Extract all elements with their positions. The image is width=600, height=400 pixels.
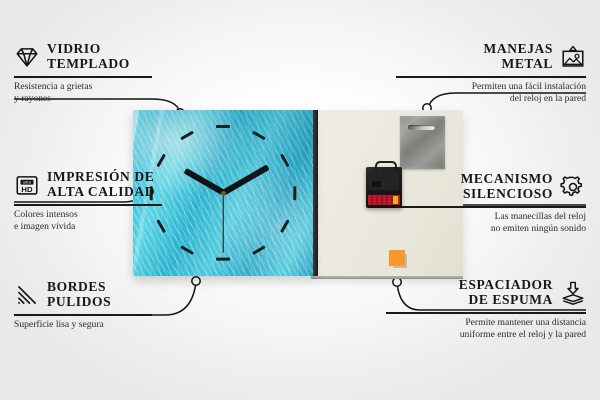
infographic-canvas: VIDRIO TEMPLADO Resistencia a grietas y …: [0, 0, 600, 400]
ultra-hd-icon: ultra HD: [14, 172, 40, 198]
feature-desc: Permiten una fácil instalación del reloj…: [386, 81, 586, 106]
feature-rule: [386, 312, 586, 313]
clock-glass-edge: [313, 110, 318, 276]
feature-impresion-alta-calidad: ultra HD IMPRESIÓN DE ALTA CALIDAD Color…: [14, 170, 204, 234]
feature-rule: [14, 76, 152, 77]
foam-spacer-arrow-icon: [560, 280, 586, 306]
feature-espaciador-espuma: ESPACIADOR DE ESPUMA Permite mantener un…: [376, 278, 586, 342]
center-pin: [221, 191, 226, 196]
feature-title-line1: VIDRIO: [47, 42, 130, 57]
minute-hand: [222, 165, 270, 196]
clock-tick: [216, 125, 230, 128]
feature-rule: [396, 76, 586, 77]
clock-tick: [156, 153, 165, 166]
feature-bordes-pulidos: BORDES PULIDOS Superficie lisa y segura: [14, 280, 194, 331]
clock-tick: [180, 131, 193, 140]
feature-mecanismo-silencioso: MECANISMO SILENCIOSO Las manecillas del …: [386, 172, 586, 236]
feature-title-line2: DE ESPUMA: [459, 293, 553, 308]
feature-desc: Superficie lisa y segura: [14, 319, 194, 332]
feature-title-line1: BORDES: [47, 280, 111, 295]
feature-desc: Permite mantener una distancia uniforme …: [376, 317, 586, 342]
gear-icon: [560, 174, 586, 200]
feature-desc-line2: uniforme entre el reloj y la pared: [376, 329, 586, 342]
feature-desc-line1: Superficie lisa y segura: [14, 319, 194, 332]
feature-desc-line1: Resistencia a grietas: [14, 81, 194, 94]
clock-tick: [252, 131, 265, 140]
clock-tick: [281, 219, 290, 232]
diamond-icon: [14, 44, 40, 70]
feature-manejas-metal: MANEJAS METAL Permiten una fácil instala…: [386, 42, 586, 106]
feature-desc-line1: Permiten una fácil instalación: [386, 81, 586, 94]
feature-rule: [396, 206, 586, 207]
feature-vidrio-templado: VIDRIO TEMPLADO Resistencia a grietas y …: [14, 42, 194, 106]
feature-desc-line1: Colores intensos: [14, 209, 204, 222]
hanger-slot: [408, 125, 435, 130]
feature-title-line1: MANEJAS: [484, 42, 553, 57]
feature-desc-line2: e imagen vívida: [14, 221, 204, 234]
feature-title-line2: PULIDOS: [47, 295, 111, 310]
feature-desc-line1: Permite mantener una distancia: [376, 317, 586, 330]
second-hand: [222, 193, 223, 253]
ultra-hd-icon-bottom: HD: [21, 185, 33, 194]
clock-tick: [216, 258, 230, 261]
feature-desc: Colores intensos e imagen vívida: [14, 209, 204, 234]
feature-title-line2: SILENCIOSO: [461, 187, 553, 202]
ultra-hd-icon-top: ultra: [23, 179, 32, 184]
metal-hanger-plate: [400, 116, 445, 169]
feature-title-line2: ALTA CALIDAD: [47, 185, 155, 200]
clock-tick: [281, 153, 290, 166]
feature-title-line1: IMPRESIÓN DE: [47, 170, 155, 185]
clock-tick: [252, 246, 265, 255]
foam-spacer: [389, 250, 405, 266]
feature-title-line1: ESPACIADOR: [459, 278, 553, 293]
polished-edges-icon: [14, 282, 40, 308]
feature-desc-line2: no emiten ningún sonido: [386, 223, 586, 236]
clock-tick: [294, 186, 297, 200]
feature-desc-line2: y rayones: [14, 93, 194, 106]
feature-rule: [14, 314, 152, 315]
feature-title-line2: METAL: [484, 57, 553, 72]
picture-frame-hanger-icon: [560, 44, 586, 70]
feature-desc-line2: del reloj en la pared: [386, 93, 586, 106]
clock-tick: [180, 246, 193, 255]
feature-rule: [14, 204, 162, 205]
feature-desc-line1: Las manecillas del reloj: [386, 211, 586, 224]
feature-title-line2: TEMPLADO: [47, 57, 130, 72]
feature-title-line1: MECANISMO: [461, 172, 553, 187]
feature-desc: Resistencia a grietas y rayones: [14, 81, 194, 106]
feature-desc: Las manecillas del reloj no emiten ningú…: [386, 211, 586, 236]
